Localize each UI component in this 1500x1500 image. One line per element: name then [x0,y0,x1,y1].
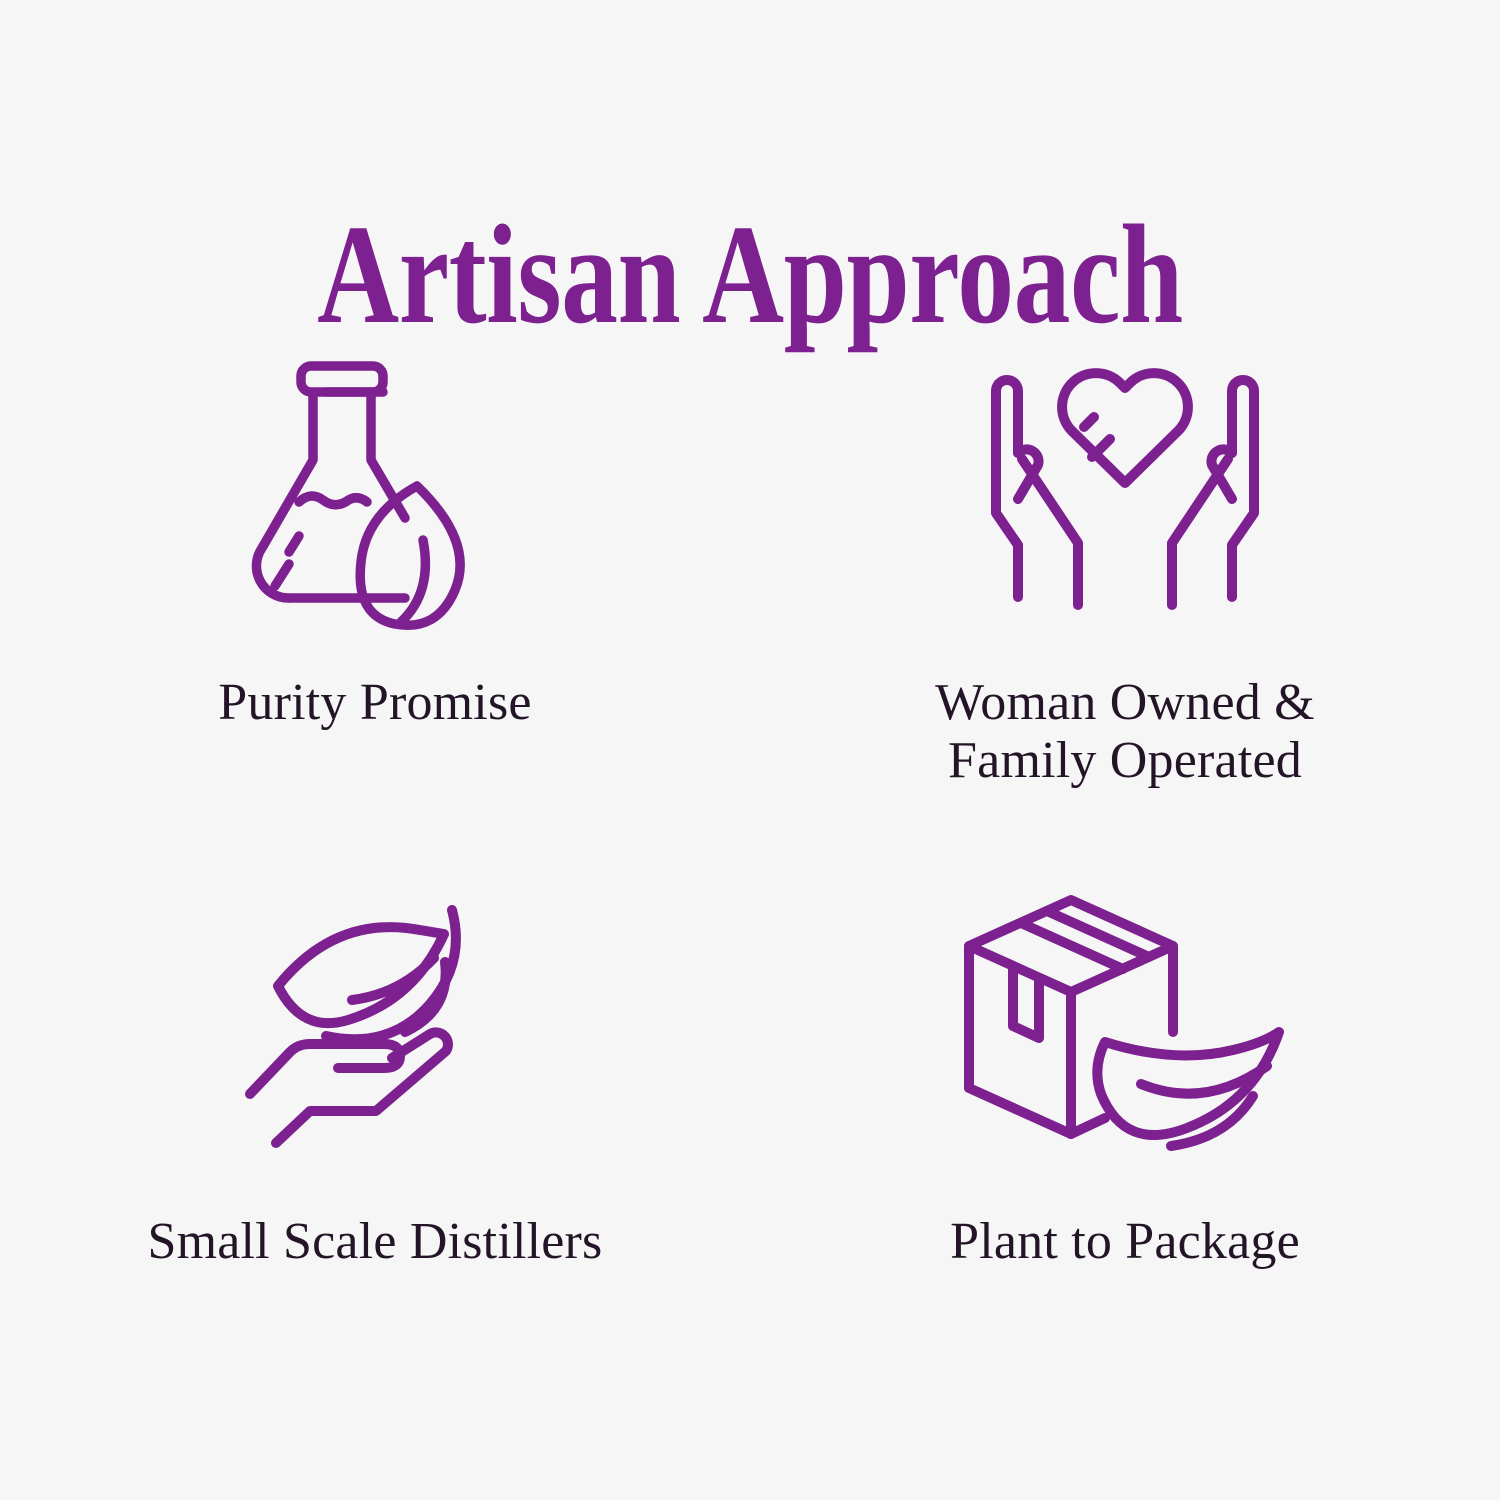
hands-holding-heart-icon [960,330,1290,660]
package-box-leaf-icon [955,875,1295,1175]
feature-item-purity-promise: Purity Promise [0,330,750,875]
feature-label: Plant to Package [950,1213,1300,1271]
leaf-in-hand-icon [240,875,510,1175]
artisan-approach-infographic: Artisan Approach [0,0,1500,1500]
feature-item-plant-to-package: Plant to Package [750,875,1500,1420]
feature-label: Purity Promise [218,674,531,732]
feature-item-small-scale-distillers: Small Scale Distillers [0,875,750,1420]
feature-grid: Purity Promise [0,330,1500,1420]
feature-label: Small Scale Distillers [147,1213,602,1271]
feature-item-woman-owned: Woman Owned & Family Operated [750,330,1500,875]
page-title: Artisan Approach [150,203,1350,345]
flask-leaf-icon [245,330,505,660]
feature-label: Woman Owned & Family Operated [935,674,1315,790]
